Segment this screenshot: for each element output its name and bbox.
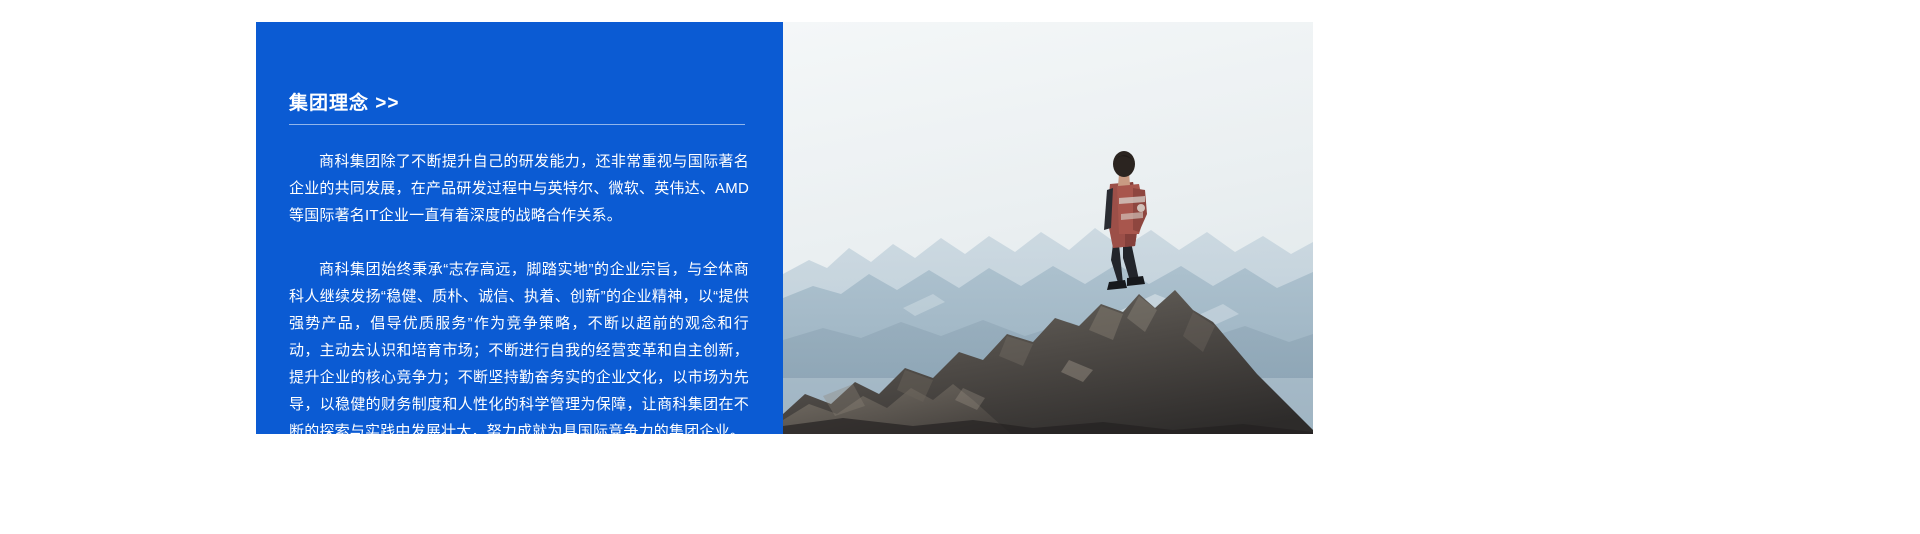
- panel-content: 集团理念 >> 商科集团除了不断提升自己的研发能力，还非常重视与国际著名企业的共…: [289, 22, 750, 434]
- concept-paragraph-2: 商科集团始终秉承“志存高远，脚踏实地”的企业宗旨，与全体商科人继续发扬“稳健、质…: [289, 256, 749, 445]
- hero-section: 集团理念 >> 商科集团除了不断提升自己的研发能力，还非常重视与国际著名企业的共…: [0, 0, 1920, 534]
- group-concept-panel: 集团理念 >> 商科集团除了不断提升自己的研发能力，还非常重视与国际著名企业的共…: [256, 22, 783, 434]
- title-divider: [289, 124, 745, 125]
- hero-image: [783, 22, 1313, 434]
- concept-body: 商科集团除了不断提升自己的研发能力，还非常重视与国际著名企业的共同发展，在产品研…: [289, 148, 749, 445]
- page-title: 集团理念 >>: [289, 88, 399, 115]
- concept-paragraph-1: 商科集团除了不断提升自己的研发能力，还非常重视与国际著名企业的共同发展，在产品研…: [289, 148, 749, 229]
- mountain-summit-photo: [783, 22, 1313, 434]
